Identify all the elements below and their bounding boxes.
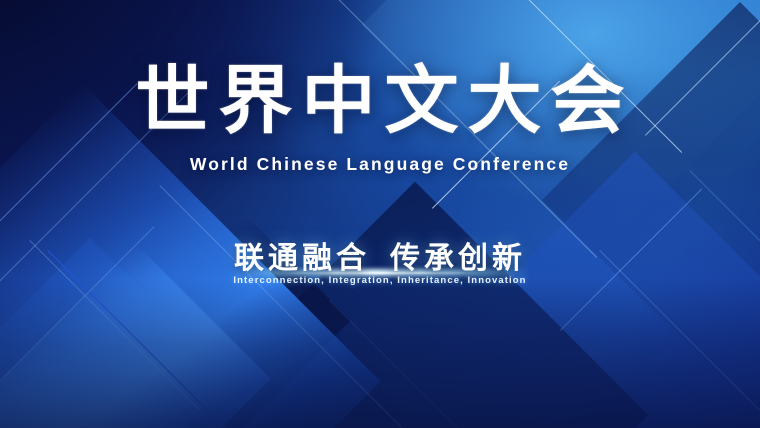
poster-content: 世界中文大会 World Chinese Language Conference… bbox=[0, 0, 760, 428]
slogan-tagline: Interconnection, Integration, Inheritanc… bbox=[233, 275, 526, 286]
page-title: 世界中文大会 bbox=[127, 62, 634, 140]
page-subtitle: World Chinese Language Conference bbox=[190, 154, 570, 175]
slogan-phrase-one: 联通融合 bbox=[234, 242, 370, 275]
slogan: 联通融合传承创新 bbox=[233, 233, 526, 277]
slogan-block: 联通融合传承创新 Interconnection, Integration, I… bbox=[223, 233, 536, 296]
conference-poster: 世界中文大会 World Chinese Language Conference… bbox=[0, 0, 760, 428]
slogan-phrase-two: 传承创新 bbox=[390, 242, 526, 275]
